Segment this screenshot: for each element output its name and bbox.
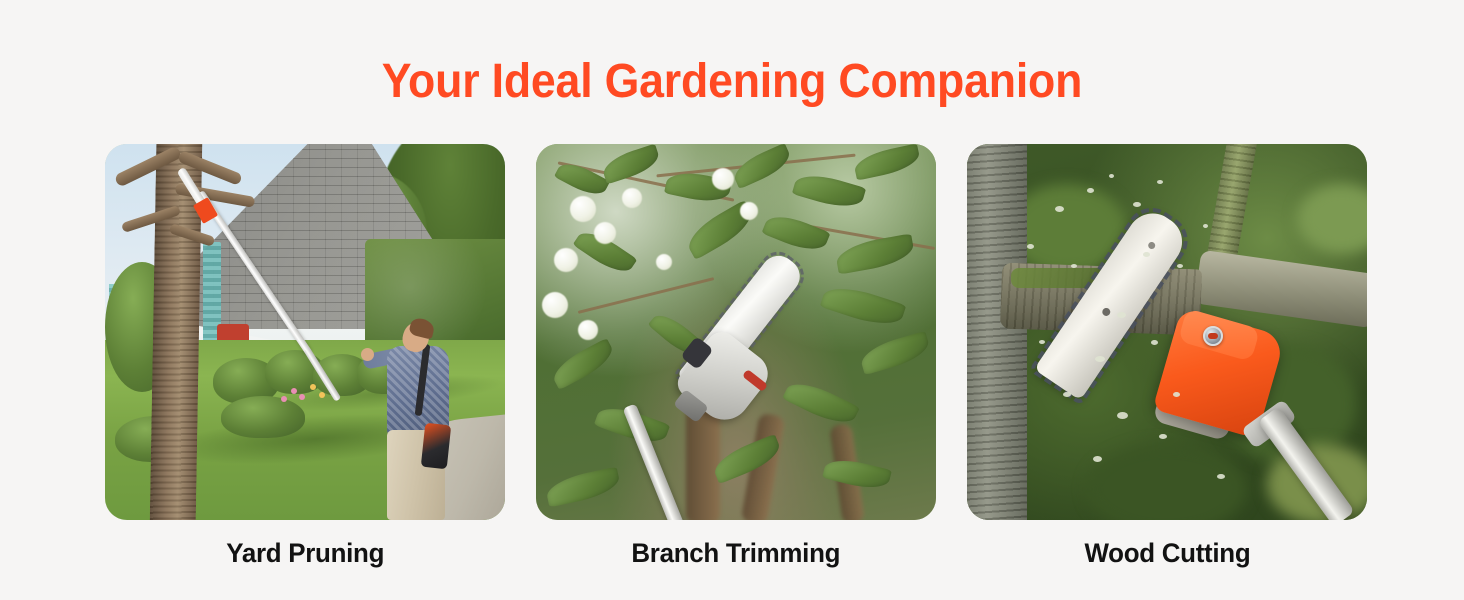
sawdust-chip [1093,456,1102,462]
sawdust-chip [1109,174,1114,178]
flower [310,384,316,390]
flower [291,388,297,394]
branch-trimming-scene [536,144,936,520]
feature-card-row: Yard Pruning [105,144,1367,570]
sawdust-chip [1133,202,1141,207]
sawdust-chip [1159,434,1167,439]
card-caption: Branch Trimming [632,536,841,570]
sawdust-chip [1039,340,1045,344]
sawdust-chip [1177,264,1183,268]
sawdust-chip [1151,340,1158,345]
sawdust-chip [1071,264,1077,268]
card-caption: Yard Pruning [226,536,384,570]
blossom [594,222,616,244]
blossom [656,254,672,270]
product-feature-banner: Your Ideal Gardening Companion [0,0,1464,600]
handheld-power-unit [421,423,451,469]
yard-pruning-photo [105,144,505,520]
branch-trimming-photo [536,144,936,520]
sawdust-chip [1027,244,1034,249]
shrub [221,396,305,438]
yard-pruning-scene [105,144,505,520]
blossom [554,248,578,272]
flower [319,392,325,398]
wood-cutting-photo [967,144,1367,520]
sawdust-chip [1157,180,1163,184]
blossom [570,196,596,222]
blossom [622,188,642,208]
person-hand [361,348,374,361]
blossom [578,320,598,340]
sawdust-chip [1117,312,1126,318]
oil-cap-marker [1208,333,1218,339]
sawdust-chip [1173,392,1180,397]
feature-card-branch-trimming: Branch Trimming [536,144,936,570]
wood-cutting-scene [967,144,1367,520]
flower [299,394,305,400]
sawdust-chip [1203,224,1208,228]
sawdust-chip [1143,252,1150,257]
tree-trunk [967,144,1027,520]
sawdust-chip [1063,392,1071,397]
feature-card-yard-pruning: Yard Pruning [105,144,505,570]
card-caption: Wood Cutting [1084,536,1250,570]
feature-card-wood-cutting: Wood Cutting [967,144,1367,570]
sawdust-chip [1087,188,1094,193]
blossom [740,202,758,220]
flower [281,396,287,402]
blossom [712,168,734,190]
sawdust-chip [1217,474,1225,479]
blossom [542,292,568,318]
sawdust-chip [1095,356,1105,362]
oil-cap-icon [1203,326,1223,346]
page-title: Your Ideal Gardening Companion [51,55,1413,109]
sawdust-chip [1117,412,1128,419]
sawdust-chip [1055,206,1064,212]
